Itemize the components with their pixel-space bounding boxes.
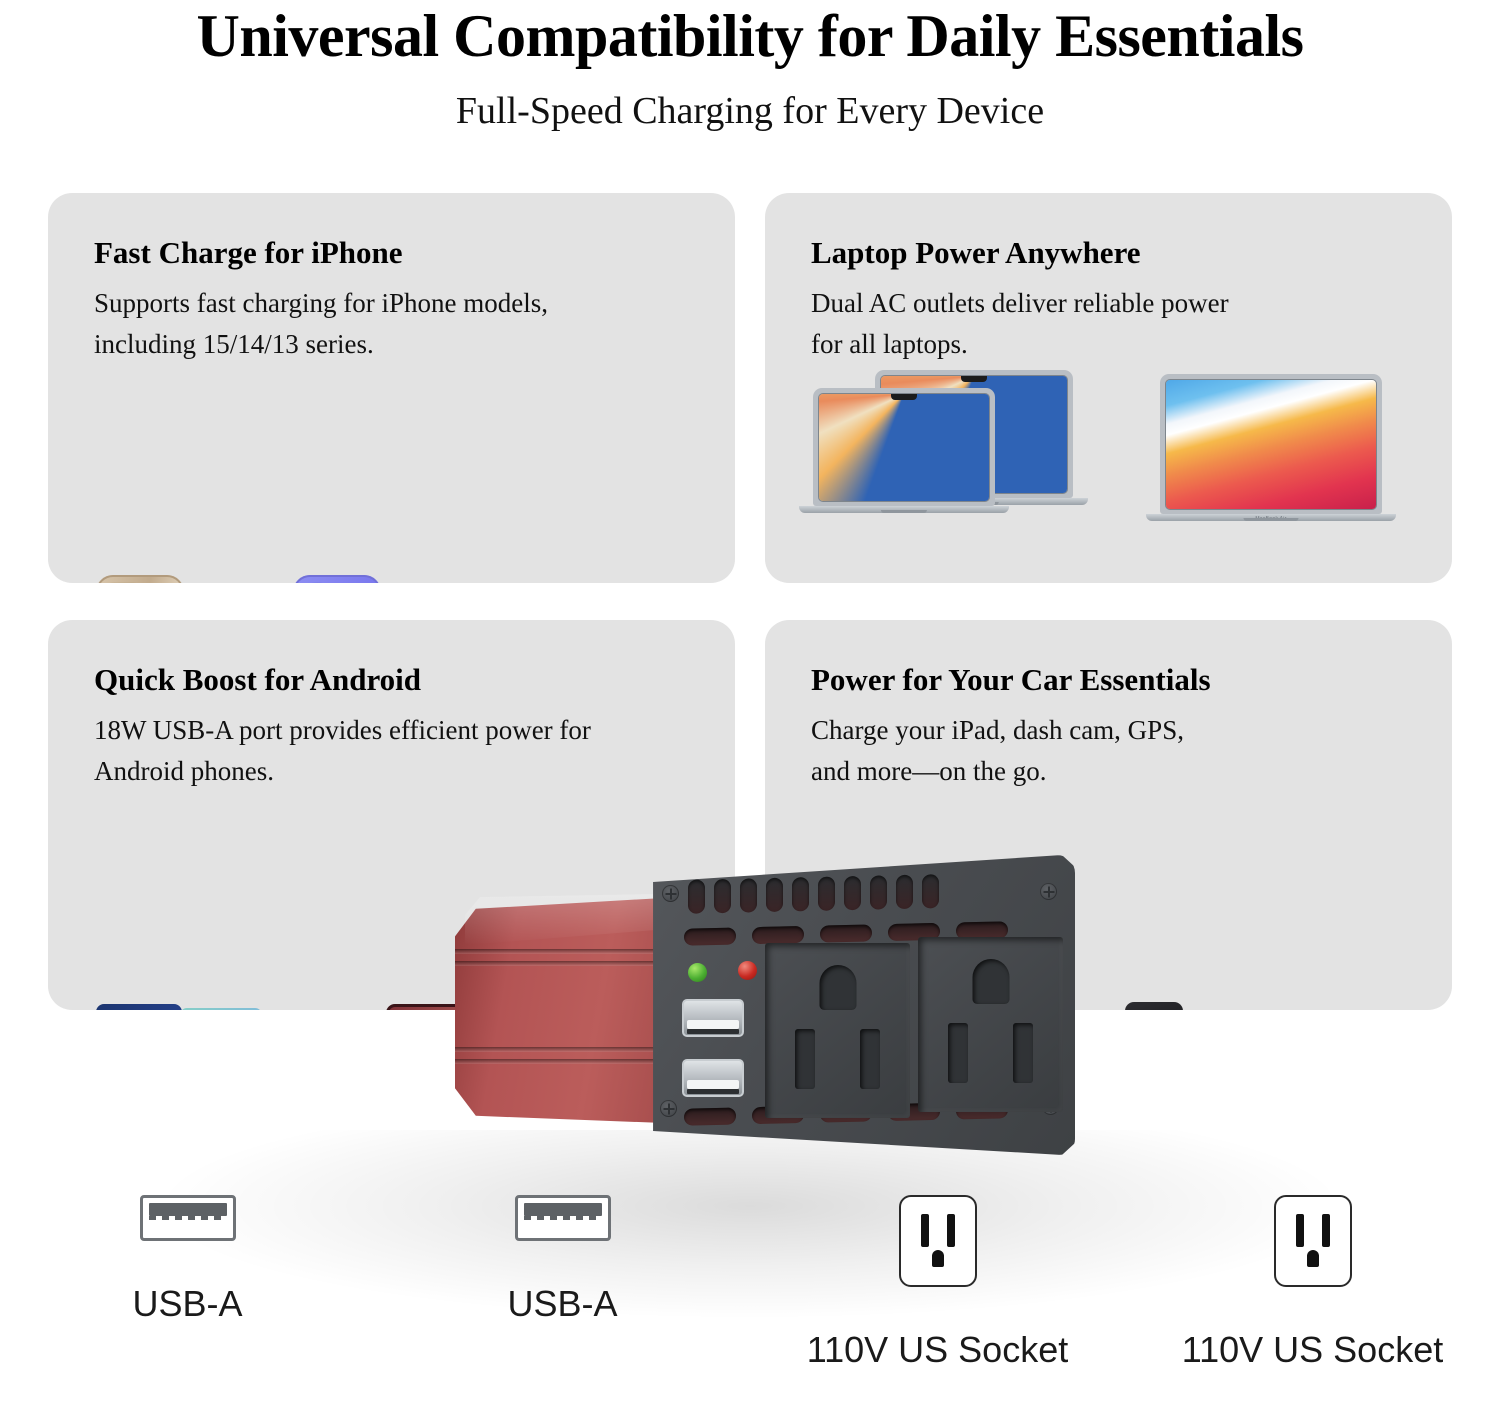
webcam-notch-icon <box>891 394 917 400</box>
page-title: Universal Compatibility for Daily Essent… <box>0 4 1500 69</box>
usb-a-port-2[interactable] <box>682 1059 744 1097</box>
port-legend: USB-A USB-A 110V US Socket 110V US Socke… <box>0 1195 1500 1375</box>
socket-ground-hole <box>819 965 856 1010</box>
legend-label: USB-A <box>507 1283 617 1325</box>
power-led-indicator <box>688 963 707 982</box>
screw-icon <box>662 885 679 902</box>
usb-a-port-1[interactable] <box>682 999 744 1037</box>
webcam-notch-icon <box>961 376 987 382</box>
macbook-base: MacBook Air <box>1146 514 1396 521</box>
legend-item-socket-1: 110V US Socket <box>750 1195 1125 1375</box>
legend-label: USB-A <box>132 1283 242 1325</box>
power-inverter-product <box>455 855 1075 1165</box>
iphone-camera-module <box>300 582 334 583</box>
card-title: Fast Charge for iPhone <box>94 235 735 271</box>
macbook-base <box>799 506 1009 513</box>
macbook-air-small <box>813 388 995 506</box>
macbook-air-bigsur <box>1160 374 1382 514</box>
iphone-illustration:   <box>48 348 735 583</box>
legend-item-usb-a-2: USB-A <box>375 1195 750 1375</box>
page-subtitle: Full-Speed Charging for Every Device <box>0 91 1500 133</box>
screw-icon <box>1040 883 1057 900</box>
dashcam-mount <box>1125 1002 1183 1010</box>
inverter-top-vents <box>688 874 939 914</box>
socket-slot-right <box>1013 1023 1033 1083</box>
fault-led-indicator <box>738 961 757 980</box>
legend-label: 110V US Socket <box>807 1329 1068 1371</box>
macbook-screen <box>818 393 990 502</box>
macbook-screen <box>1165 379 1377 510</box>
us-socket-icon <box>899 1195 977 1287</box>
fold-back-panel <box>96 1004 182 1010</box>
feature-card-fast-charge-iphone: Fast Charge for iPhone Supports fast cha… <box>48 193 735 583</box>
page-header: Universal Compatibility for Daily Essent… <box>0 0 1500 133</box>
socket-slot-right <box>860 1029 880 1089</box>
socket-slot-left <box>948 1023 968 1083</box>
inverter-front-panel <box>640 855 1075 1155</box>
ac-socket-2[interactable] <box>918 937 1063 1112</box>
screw-icon <box>660 1100 677 1117</box>
socket-ground-hole <box>972 959 1009 1004</box>
socket-slot-left <box>795 1029 815 1089</box>
feature-card-laptop-power: Laptop Power Anywhere Dual AC outlets de… <box>765 193 1452 583</box>
card-title: Power for Your Car Essentials <box>811 662 1452 698</box>
card-title: Laptop Power Anywhere <box>811 235 1452 271</box>
iphone-back-gold:  <box>96 575 184 583</box>
usb-a-icon <box>515 1195 611 1241</box>
laptop-illustration: MacBook Air <box>765 348 1452 583</box>
legend-label: 110V US Socket <box>1182 1329 1443 1371</box>
us-socket-icon <box>1274 1195 1352 1287</box>
ac-socket-1[interactable] <box>765 943 910 1118</box>
legend-item-usb-a-1: USB-A <box>0 1195 375 1375</box>
usb-a-icon <box>140 1195 236 1241</box>
legend-item-socket-2: 110V US Socket <box>1125 1195 1500 1375</box>
iphone-camera-module <box>103 582 143 583</box>
fold-front-screen <box>180 1008 262 1010</box>
card-title: Quick Boost for Android <box>94 662 735 698</box>
iphone-back-purple:  <box>293 575 381 583</box>
macbook-label: MacBook Air <box>1255 516 1286 522</box>
